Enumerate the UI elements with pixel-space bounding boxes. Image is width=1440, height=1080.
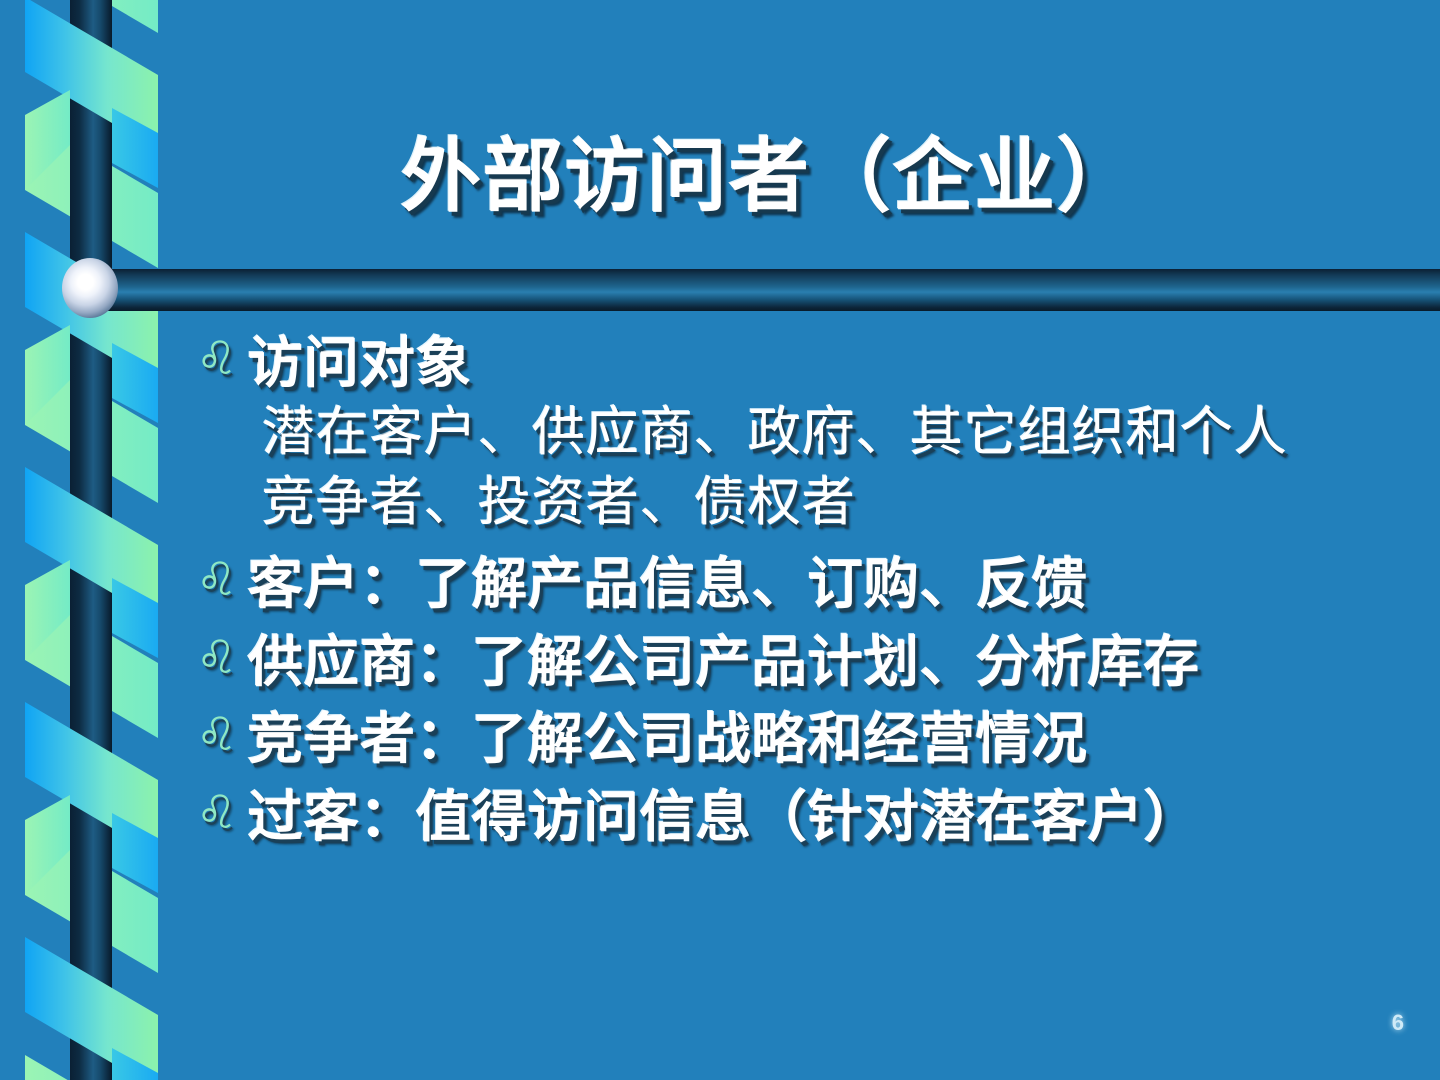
bullet-item-4: ♌ 过客：值得访问信息（针对潜在客户） [196, 786, 1426, 850]
leo-bullet-icon: ♌ [196, 631, 248, 684]
slide-body: ♌ 访问对象 潜在客户、供应商、政府、其它组织和个人 竞争者、投资者、债权者 ♌… [196, 332, 1426, 852]
bullet-item-2: ♌ 供应商：了解公司产品计划、分析库存 [196, 631, 1426, 695]
bullet-item-4-label: 过客：值得访问信息（针对潜在客户） [248, 786, 1426, 850]
page-number: 6 [1392, 1010, 1404, 1036]
leo-bullet-icon: ♌ [196, 553, 248, 606]
horizontal-bar [88, 269, 1440, 311]
bullet-item-0-subline-1: 竞争者、投资者、债权者 [262, 468, 1426, 538]
leo-bullet-icon: ♌ [196, 332, 248, 385]
slide-title: 外部访问者（企业） [180, 136, 1360, 220]
bullet-item-0: ♌ 访问对象 [196, 332, 1426, 396]
ribbon-svg [0, 0, 190, 1080]
leo-bullet-icon: ♌ [196, 708, 248, 761]
presentation-slide: 外部访问者（企业） ♌ 访问对象 潜在客户、供应商、政府、其它组织和个人 竞争者… [0, 0, 1440, 1080]
leo-bullet-icon: ♌ [196, 786, 248, 839]
bullet-item-3: ♌ 竞争者：了解公司战略和经营情况 [196, 708, 1426, 772]
bullet-item-1: ♌ 客户：了解产品信息、订购、反馈 [196, 553, 1426, 617]
bullet-item-0-label: 访问对象 [248, 332, 1426, 396]
bullet-item-1-label: 客户：了解产品信息、订购、反馈 [248, 553, 1426, 617]
bullet-item-3-label: 竞争者：了解公司战略和经营情况 [248, 708, 1426, 772]
glow-sphere-icon [62, 258, 118, 318]
bullet-item-2-label: 供应商：了解公司产品计划、分析库存 [248, 631, 1426, 695]
spiral-ribbon-decoration [0, 0, 190, 1080]
bullet-item-0-subline-0: 潜在客户、供应商、政府、其它组织和个人 [262, 398, 1426, 468]
